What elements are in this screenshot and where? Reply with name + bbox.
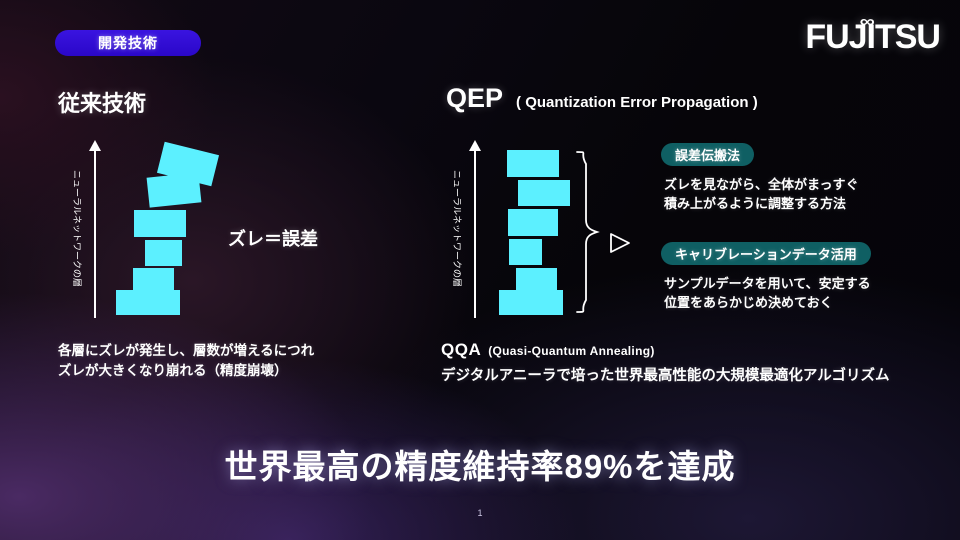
left-axis-arrowhead (89, 140, 101, 151)
right-axis-arrowhead (469, 140, 481, 151)
callout-badge-1: 誤差伝搬法 (661, 143, 754, 166)
left-stack-block-5 (147, 172, 202, 207)
left-caption-line-1: 各層にズレが発生し、層数が増えるにつれ (58, 341, 314, 361)
callout-text-1-line-1: ズレを見ながら、全体がまっすぐ (664, 176, 858, 195)
left-stack-block-1 (116, 290, 180, 315)
qep-title-sub: ( Quantization Error Propagation ) (516, 94, 758, 111)
right-stack-block-1 (499, 290, 563, 315)
left-panel-title: 従来技術 (58, 86, 146, 118)
left-stack-block-4 (134, 210, 186, 237)
left-caption-line-2: ズレが大きくなり崩れる（精度崩壊） (58, 361, 314, 381)
qqa-description: デジタルアニーラで培った世界最高性能の大規模最適化アルゴリズム (441, 364, 889, 385)
callout-text-1: ズレを見ながら、全体がまっすぐ 積み上がるように調整する方法 (664, 176, 858, 214)
fujitsu-logo: ∞ FUJITSU (805, 18, 940, 57)
headline-result: 世界最高の精度維持率89%を達成 (0, 440, 960, 488)
right-stack-block-4 (508, 209, 558, 236)
right-axis-label: ニューラルネットワークの層 (451, 170, 464, 287)
error-note-label: ズレ＝誤差 (228, 225, 318, 251)
right-stack-block-6 (507, 150, 559, 177)
slide-canvas: 開発技術 ∞ FUJITSU 従来技術 ニューラルネットワークの層 ズレ＝誤差 … (0, 0, 960, 540)
arrow-triangle-icon (608, 232, 632, 254)
callout-badge-2: キャリブレーションデータ活用 (661, 242, 871, 265)
right-stack-block-5 (518, 180, 570, 206)
right-axis-arrow (474, 150, 476, 318)
left-axis-arrow (94, 150, 96, 318)
qqa-full-name: (Quasi-Quantum Annealing) (488, 344, 654, 358)
qqa-abbr: QQA (441, 340, 481, 360)
callout-text-1-line-2: 積み上がるように調整する方法 (664, 195, 858, 214)
left-caption: 各層にズレが発生し、層数が増えるにつれ ズレが大きくなり崩れる（精度崩壊） (58, 341, 314, 380)
page-number: 1 (0, 508, 960, 518)
right-stack-block-3 (509, 239, 542, 265)
grouping-brace (575, 150, 601, 314)
callout-text-2-line-1: サンプルデータを用いて、安定する (664, 275, 871, 294)
qep-title-main: QEP (446, 83, 503, 114)
infinity-icon: ∞ (860, 12, 874, 32)
section-badge: 開発技術 (55, 30, 201, 56)
callout-text-2: サンプルデータを用いて、安定する 位置をあらかじめ決めておく (664, 275, 871, 313)
left-axis-label: ニューラルネットワークの層 (71, 170, 84, 287)
left-stack-block-3 (145, 240, 182, 266)
callout-text-2-line-2: 位置をあらかじめ決めておく (664, 294, 871, 313)
qqa-title: QQA (Quasi-Quantum Annealing) (441, 340, 655, 360)
right-panel-title: QEP ( Quantization Error Propagation ) (446, 83, 758, 114)
